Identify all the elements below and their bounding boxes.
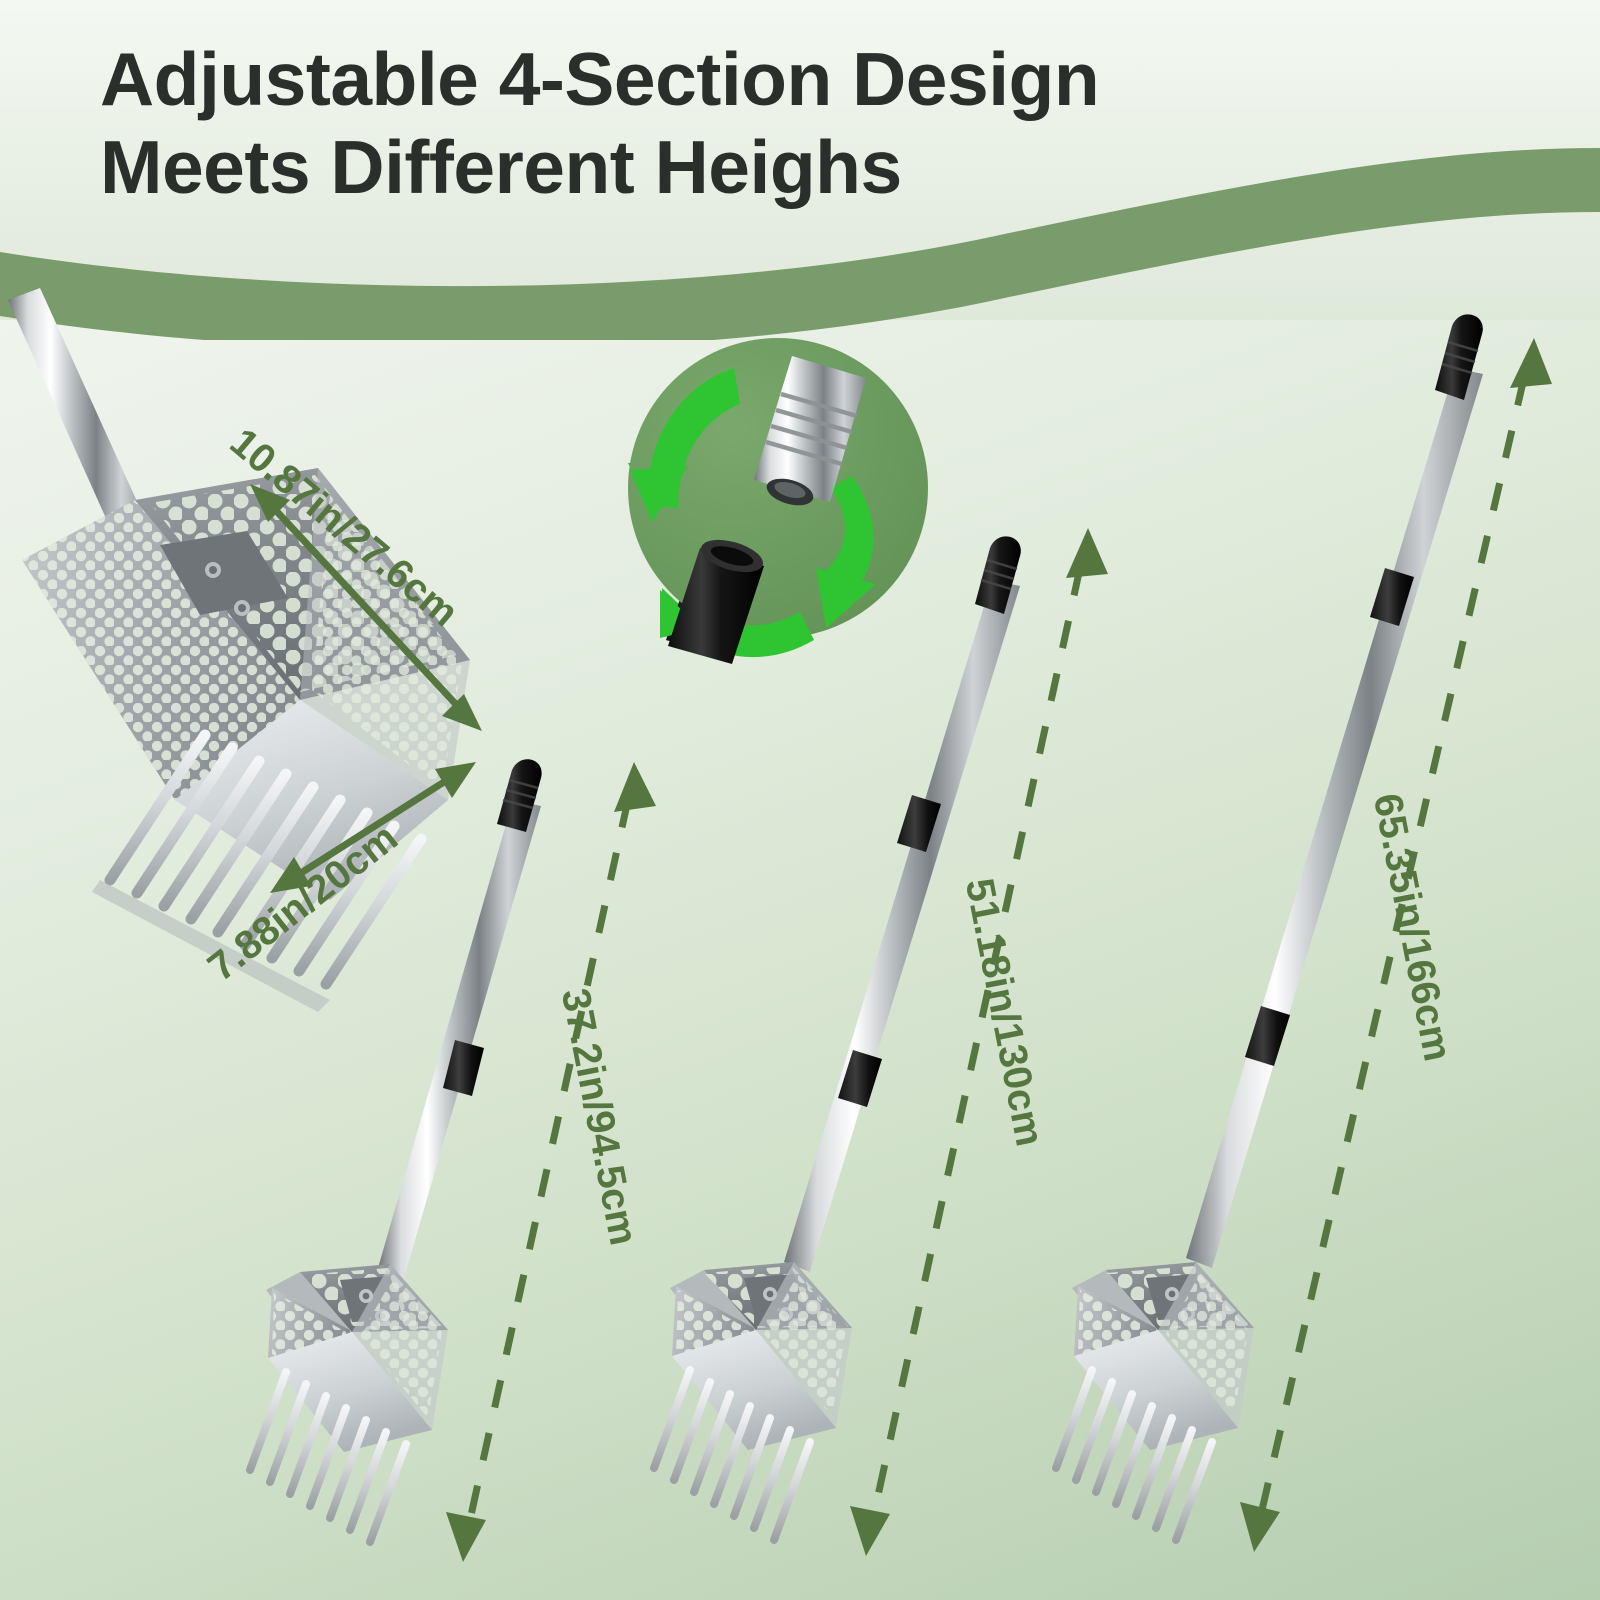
assembly-tall-collar-lower: [1245, 1006, 1290, 1066]
assembly-short-collar: [443, 1040, 484, 1096]
assembly-tall: [1056, 314, 1552, 1552]
page-title: Adjustable 4-Section Design Meets Differ…: [100, 36, 1400, 212]
height-arrowhead-tall-bottom: [1240, 1502, 1280, 1552]
twist-lock-inset-circle: [628, 338, 928, 638]
height-dashed-line-medium: [874, 568, 1080, 1514]
assembly-medium: [654, 528, 1108, 1556]
assembly-short-basket: [250, 1264, 448, 1542]
height-label-medium: 51.18in/130cm: [956, 875, 1052, 1150]
scoop-detail-view: [8, 288, 482, 1012]
title-line-1: Adjustable 4-Section Design: [100, 36, 1400, 124]
assembly-tall-collar-upper: [1370, 568, 1414, 626]
assembly-tall-pole: [1186, 314, 1483, 1268]
height-arrowhead-medium-bottom: [850, 1506, 890, 1556]
height-label-short: 37.2in/94.5cm: [552, 985, 646, 1249]
assembly-medium-collar-upper: [897, 795, 941, 852]
assembly-medium-grip: [975, 536, 1021, 614]
assembly-short-pole: [378, 759, 542, 1278]
height-arrowhead-medium-top: [1066, 528, 1108, 578]
height-arrowhead-short-top: [614, 762, 656, 812]
assembly-medium-basket: [654, 1262, 852, 1540]
dimension-arrowhead-width-end: [442, 694, 482, 731]
height-arrowhead-short-bottom: [446, 1512, 486, 1562]
product-infographic: Adjustable 4-Section Design Meets Differ…: [0, 0, 1600, 1600]
assembly-medium-collar-lower: [838, 1050, 882, 1107]
dimension-label-depth: 7.88in/20cm: [200, 815, 406, 990]
height-label-tall: 65.35in/166cm: [1364, 790, 1460, 1065]
height-arrowhead-tall-top: [1510, 338, 1552, 388]
dimension-arrowhead-depth-end: [435, 762, 476, 798]
assembly-short-grip: [497, 759, 542, 832]
title-line-2: Meets Different Heighs: [100, 124, 1400, 212]
dimension-label-width: 10.87in/27.6cm: [221, 420, 466, 636]
assembly-tall-basket: [1056, 1262, 1254, 1540]
